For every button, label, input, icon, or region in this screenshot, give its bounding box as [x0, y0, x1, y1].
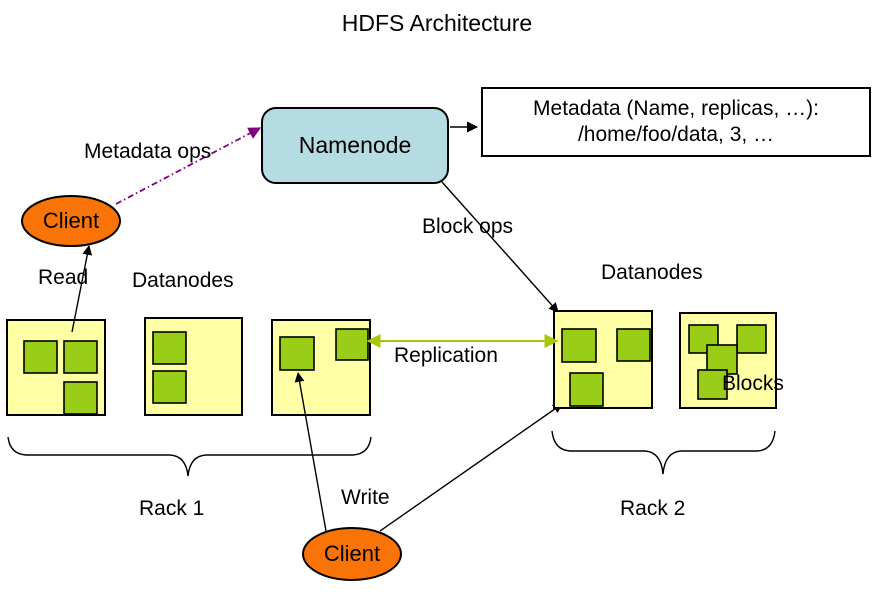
namenode-box[interactable] — [262, 108, 448, 183]
write-label: Write — [341, 486, 390, 510]
rack2-label: Rack 2 — [620, 497, 685, 521]
client-bottom-ellipse[interactable] — [303, 528, 401, 580]
block-ops-arrow — [442, 182, 558, 312]
datanodes-left-label: Datanodes — [132, 269, 234, 293]
metadata-ops-label: Metadata ops — [84, 140, 211, 164]
block — [336, 329, 368, 360]
replication-label: Replication — [394, 344, 498, 368]
block — [617, 329, 650, 361]
blocks-label: Blocks — [722, 372, 784, 396]
read-label: Read — [38, 266, 88, 290]
client-top-ellipse[interactable] — [22, 196, 120, 246]
hdfs-architecture-diagram: HDFS Architecture — [0, 0, 874, 604]
block — [562, 329, 596, 362]
write-arrow-to-rack2 — [380, 404, 562, 531]
datanodes-right-label: Datanodes — [601, 261, 703, 285]
rack1-label: Rack 1 — [139, 497, 204, 521]
block — [280, 337, 314, 370]
block-ops-label: Block ops — [422, 215, 513, 239]
block — [570, 373, 603, 406]
diagram-graphics — [0, 0, 874, 604]
block — [24, 341, 57, 373]
block — [737, 325, 766, 353]
rack2-brace — [552, 431, 775, 474]
metadata-box[interactable] — [482, 88, 870, 156]
block — [64, 341, 97, 373]
rack1-brace — [8, 437, 371, 476]
block — [153, 332, 186, 364]
block — [64, 382, 97, 414]
block — [153, 371, 186, 403]
